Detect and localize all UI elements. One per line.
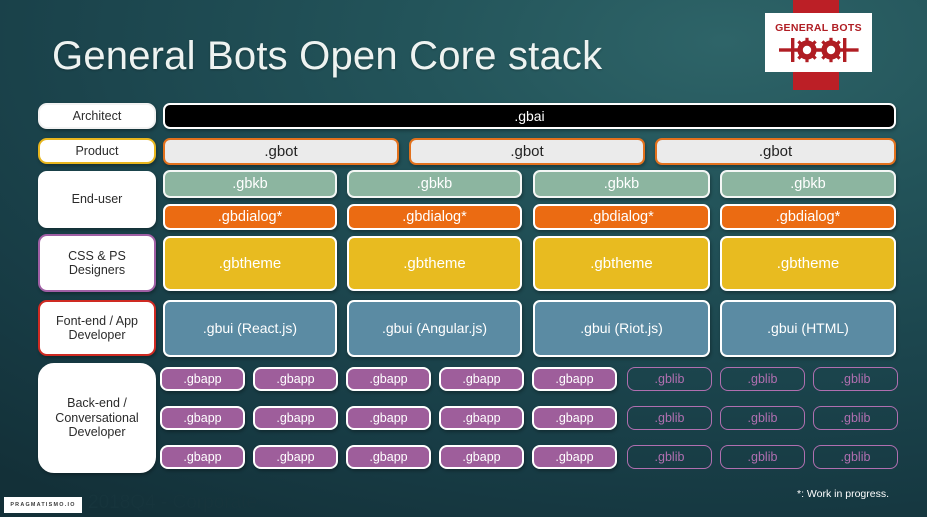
stack-box-label: .gbapp [183, 372, 221, 386]
stack-box-gbtheme: .gbtheme [163, 236, 337, 291]
role-label-front-end-app-developer: Font-end / App Developer [38, 300, 156, 356]
stack-box-label: .gbot [264, 143, 297, 160]
stack-box-gbapp: .gbapp [253, 406, 338, 430]
stack-box-gbapp: .gbapp [346, 406, 431, 430]
stack-box-gblib: .gblib [627, 406, 712, 430]
stack-box-gblib: .gblib [720, 406, 805, 430]
stack-box-label: .gbot [510, 143, 543, 160]
stack-box-label: .gbui (Riot.js) [580, 320, 662, 336]
stack-box-gbui-riot: .gbui (Riot.js) [533, 300, 710, 357]
stack-box-gbui-html: .gbui (HTML) [720, 300, 896, 357]
role-label-end-user: End-user [38, 171, 156, 228]
stack-box-label: .gbapp [462, 450, 500, 464]
stack-box-gblib: .gblib [720, 445, 805, 469]
stack-box-label: .gbai [514, 108, 544, 124]
stack-box-gblib: .gblib [813, 367, 898, 391]
stack-box-label: .gblib [841, 411, 871, 425]
stack-box-gblib: .gblib [813, 406, 898, 430]
stack-box-gbui-react: .gbui (React.js) [163, 300, 337, 357]
stack-box-label: .gbdialog* [402, 209, 467, 226]
stack-box-gblib: .gblib [627, 367, 712, 391]
stack-box-gblib: .gblib [813, 445, 898, 469]
stack-box-gbkb: .gbkb [720, 170, 896, 198]
stack-box-label: .gbapp [555, 411, 593, 425]
stack-box-gbapp: .gbapp [160, 406, 245, 430]
stack-box-label: .gblib [748, 372, 778, 386]
stack-box-gbapp: .gbapp [439, 406, 524, 430]
pragmatismo-logo: PRAGMATISMO.IO [4, 497, 82, 513]
stack-box-gbapp: .gbapp [346, 367, 431, 391]
stack-box-gbapp: .gbapp [160, 367, 245, 391]
role-label-back-end-conversational-developer: Back-end / Conversational Developer [38, 363, 156, 473]
stack-box-label: .gbkb [232, 176, 267, 193]
stack-box-gbkb: .gbkb [163, 170, 337, 198]
stack-box-label: .gbapp [462, 411, 500, 425]
stack-box-label: .gbui (Angular.js) [382, 320, 487, 336]
stack-box-label: .gbdialog* [218, 209, 283, 226]
stack-box-label: .gbapp [369, 450, 407, 464]
role-label-text: Product [75, 144, 118, 158]
stack-box-label: .gbui (React.js) [203, 320, 297, 336]
stack-box-label: .gbot [759, 143, 792, 160]
stack-box-gbot: .gbot [655, 138, 896, 165]
slide-canvas: GENERAL BOTS [0, 0, 927, 517]
stack-box-label: .gbdialog* [776, 209, 841, 226]
stack-box-gbkb: .gbkb [347, 170, 522, 198]
stack-box-label: .gbapp [276, 450, 314, 464]
stack-box-label: .gbapp [555, 372, 593, 386]
stack-box-label: .gbapp [276, 411, 314, 425]
stack-box-label: .gbapp [369, 372, 407, 386]
stack-box-gbui-angular: .gbui (Angular.js) [347, 300, 522, 357]
stack-box-gbdialog: .gbdialog* [163, 204, 337, 230]
stack-box-gbot: .gbot [163, 138, 399, 165]
stack-box-gbapp: .gbapp [439, 445, 524, 469]
stack-box-label: .gblib [748, 450, 778, 464]
stack-box-label: .gblib [655, 411, 685, 425]
general-bots-logo: GENERAL BOTS [765, 13, 872, 72]
stack-box-gbtheme: .gbtheme [720, 236, 896, 291]
role-label-text: Font-end / App Developer [44, 314, 150, 343]
stack-box-gbtheme: .gbtheme [347, 236, 522, 291]
stack-box-label: .gbtheme [219, 255, 282, 272]
pragmatismo-logo-text: PRAGMATISMO.IO [10, 502, 75, 508]
role-label-text: Back-end / Conversational Developer [44, 396, 150, 439]
stack-box-label: .gblib [841, 450, 871, 464]
stack-box-label: .gbapp [183, 450, 221, 464]
role-label-text: CSS & PS Designers [44, 249, 150, 278]
page-title: General Bots Open Core stack [52, 34, 602, 79]
work-in-progress-note: *: Work in progress. [797, 488, 889, 500]
stack-box-gblib: .gblib [720, 367, 805, 391]
stack-box-gbapp: .gbapp [439, 367, 524, 391]
stack-box-gbapp: .gbapp [532, 367, 617, 391]
stack-box-gbapp: .gbapp [532, 406, 617, 430]
stack-box-gbdialog: .gbdialog* [720, 204, 896, 230]
role-label-architect: Architect [38, 103, 156, 129]
stack-box-gbapp: .gbapp [346, 445, 431, 469]
gears-robot-icon [777, 36, 861, 64]
stack-box-label: .gbapp [276, 372, 314, 386]
stack-box-label: .gbapp [183, 411, 221, 425]
stack-box-gbai: .gbai [163, 103, 896, 129]
stack-box-gbdialog: .gbdialog* [533, 204, 710, 230]
stack-box-label: .gbapp [369, 411, 407, 425]
stack-box-gbkb: .gbkb [533, 170, 710, 198]
stack-box-label: .gbtheme [590, 255, 653, 272]
stack-box-label: .gbapp [462, 372, 500, 386]
stack-box-label: .gbui (HTML) [767, 320, 849, 336]
stack-box-label: .gbdialog* [589, 209, 654, 226]
stack-box-label: .gblib [655, 450, 685, 464]
stack-box-gbapp: .gbapp [532, 445, 617, 469]
stack-box-label: .gbkb [417, 176, 452, 193]
stack-box-gbdialog: .gbdialog* [347, 204, 522, 230]
stack-box-label: .gbkb [790, 176, 825, 193]
stack-box-gbapp: .gbapp [253, 367, 338, 391]
stack-box-gbapp: .gbapp [160, 445, 245, 469]
stack-box-gbot: .gbot [409, 138, 645, 165]
stack-box-label: .gblib [748, 411, 778, 425]
role-label-css-ps-designers: CSS & PS Designers [38, 234, 156, 292]
stack-box-label: .gblib [841, 372, 871, 386]
stack-box-label: .gbkb [604, 176, 639, 193]
role-label-text: Architect [73, 109, 122, 123]
stack-box-gbapp: .gbapp [253, 445, 338, 469]
footer-caption: 2018Q4 - Corporate [88, 492, 257, 514]
logo-wordmark: GENERAL BOTS [775, 22, 862, 34]
stack-box-gblib: .gblib [627, 445, 712, 469]
role-label-text: End-user [72, 192, 123, 206]
role-label-product: Product [38, 138, 156, 164]
stack-box-label: .gbtheme [777, 255, 840, 272]
stack-box-label: .gblib [655, 372, 685, 386]
stack-box-label: .gbtheme [403, 255, 466, 272]
stack-box-gbtheme: .gbtheme [533, 236, 710, 291]
stack-box-label: .gbapp [555, 450, 593, 464]
